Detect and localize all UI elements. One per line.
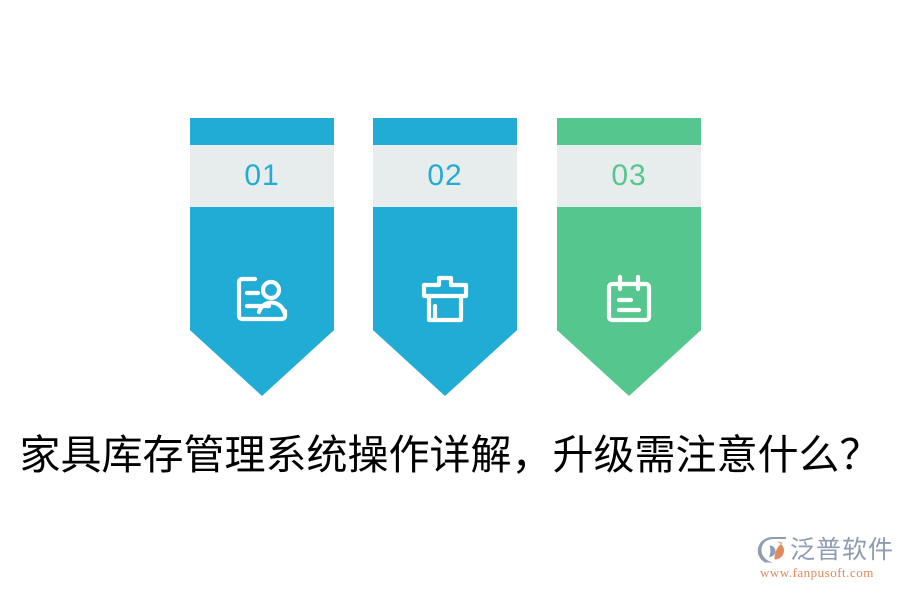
step-banner-03[interactable]: 03 — [557, 118, 701, 396]
logo-row: 泛普软件 — [757, 536, 894, 564]
clipboard-note-icon — [557, 262, 701, 336]
storefront-icon — [373, 262, 517, 336]
step-banner-group: 01 02 03 — [190, 118, 702, 396]
brand-logo: 泛普软件 www.fanpusoft.com — [757, 536, 897, 586]
banner-number-band: 03 — [557, 145, 701, 207]
banner-number-label: 01 — [244, 161, 279, 191]
banner-number-band: 02 — [373, 145, 517, 207]
fanpu-logo-mark — [757, 536, 787, 564]
step-banner-01[interactable]: 01 — [190, 118, 334, 396]
logo-wordmark: 泛普软件 — [790, 536, 894, 564]
banner-number-label: 02 — [427, 161, 462, 191]
page-title: 家具库存管理系统操作详解，升级需注意什么？ — [0, 425, 900, 485]
banner-number-label: 03 — [611, 161, 646, 191]
logo-url: www.fanpusoft.com — [760, 565, 874, 581]
banner-number-band: 01 — [190, 145, 334, 207]
step-banner-02[interactable]: 02 — [373, 118, 517, 396]
contact-card-icon — [190, 262, 334, 336]
